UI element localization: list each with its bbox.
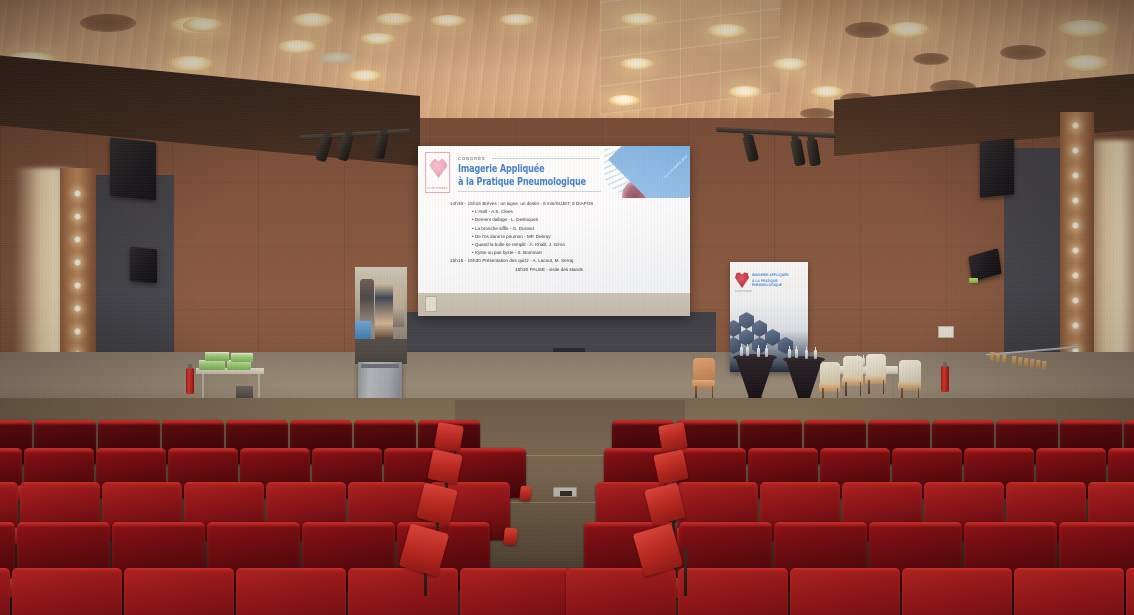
programme-line: • Kyste ou pas kyste - S. Bommart xyxy=(418,249,690,257)
banner-title-line2: À LA PRATIQUE PNEUMOLOGIQUE xyxy=(752,279,808,287)
chair-back xyxy=(843,356,863,379)
seat xyxy=(566,568,676,615)
chair-leg xyxy=(868,380,870,394)
stage-chair xyxy=(899,360,921,402)
side-doorway[interactable] xyxy=(355,267,407,364)
projection-screen: CLUB THORAX CONGRÈS Imagerie Appliquée à… xyxy=(418,146,690,316)
stage-chair xyxy=(820,362,840,402)
floor-socket-box xyxy=(553,487,577,497)
programme-line: • Quand la bulle se remplit - A. Khalil,… xyxy=(418,241,690,249)
seat xyxy=(0,568,10,615)
programme-line: 15h15 - 15h30 Présentation des quizz - A… xyxy=(418,257,690,265)
ceiling-light xyxy=(886,22,930,38)
slide-title-line1: Imagerie Appliquée xyxy=(458,163,596,176)
programme-line: • De l'os dans le poumon - MP. Debray xyxy=(418,233,690,241)
ceiling-light xyxy=(1058,20,1110,38)
programme-text: • Kyste ou pas kyste - S. Bommart xyxy=(472,250,542,255)
chair-back xyxy=(866,354,886,377)
ceiling-light xyxy=(348,70,382,82)
seat xyxy=(124,568,234,615)
banner-subtitle: CLUB THORAX xyxy=(735,290,752,293)
aisle-armrest xyxy=(653,449,689,485)
fire-extinguisher xyxy=(941,366,949,392)
programme-line: 15h30 PAUSE - visite des stands xyxy=(418,266,690,274)
programme-time: 14h30 - 15h15 xyxy=(450,201,482,206)
chair-back xyxy=(820,362,840,385)
programme-text: Brèves : un signe, un destin - 6 min/SUJ… xyxy=(482,201,593,206)
exit-sign-icon xyxy=(969,278,978,283)
programme-time: 15h15 - 15h30 xyxy=(450,258,482,263)
seat xyxy=(1126,568,1134,615)
programme-text: • De l'os dans le poumon - MP. Debray xyxy=(472,234,551,239)
water-bottle-pack xyxy=(199,360,225,370)
ceiling-light xyxy=(360,33,396,45)
wall-notice-sign xyxy=(938,326,954,338)
chair-leg xyxy=(860,382,862,396)
ceiling-light xyxy=(375,13,413,26)
table-leg xyxy=(892,374,894,398)
seat xyxy=(790,568,900,615)
aisle-armrest xyxy=(427,449,463,485)
seat xyxy=(12,568,122,615)
slide-kicker: CONGRÈS xyxy=(458,156,485,161)
seat xyxy=(348,568,458,615)
slide-content: CLUB THORAX CONGRÈS Imagerie Appliquée à… xyxy=(418,146,690,293)
ceiling-light xyxy=(291,13,333,28)
ceiling-light xyxy=(728,86,762,98)
ceiling-vent xyxy=(913,53,949,65)
slide-title: Imagerie Appliquée à la Pratique Pneumol… xyxy=(458,163,596,188)
aisle-armrest xyxy=(658,422,688,452)
ceiling-light xyxy=(608,95,640,106)
ceiling-vent xyxy=(318,52,356,64)
ceiling-light xyxy=(183,18,223,32)
ceiling-light xyxy=(620,13,658,26)
water-bottle xyxy=(740,347,743,356)
slide-artwork: 22 & 23 MARS 2019 xyxy=(598,146,690,198)
club-thorax-logo-icon: CLUB THORAX xyxy=(425,152,450,193)
programme-text: • L'Atoll - A.S. Clees xyxy=(472,209,513,214)
auditorium-photo: CLUB THORAX CONGRÈS Imagerie Appliquée à… xyxy=(0,0,1134,615)
ceiling-vent xyxy=(845,22,889,38)
programme-text: Présentation des quizz - A. Lacout, M. S… xyxy=(482,258,573,263)
seat xyxy=(678,568,788,615)
lung-heart-icon xyxy=(429,158,448,178)
seat-armrest xyxy=(503,527,518,545)
seat xyxy=(902,568,1012,615)
slide-title-line2: à la Pratique Pneumologique xyxy=(458,176,596,189)
water-bottle xyxy=(805,350,808,359)
water-bottle xyxy=(788,349,791,358)
ceiling-light xyxy=(430,15,466,27)
chair-back xyxy=(899,360,921,384)
ceiling-light xyxy=(707,24,747,38)
ceiling-light xyxy=(1062,55,1110,72)
chair-back xyxy=(693,358,715,382)
stage-chair xyxy=(693,358,715,400)
programme-text: PAUSE - visite des stands xyxy=(530,267,583,272)
wall-speaker-left xyxy=(130,247,157,283)
programme-text: • La bronche siffle - G. Durand xyxy=(472,226,534,231)
line-array-speaker-right xyxy=(980,138,1014,198)
fire-extinguisher xyxy=(186,368,194,394)
person-silhouette xyxy=(375,283,393,339)
seat xyxy=(1014,568,1124,615)
ceiling-light xyxy=(810,86,844,98)
ceiling-vent xyxy=(1000,45,1046,60)
programme-line: • La bronche siffle - G. Durand xyxy=(418,225,690,233)
banner-title-line1: IMAGERIE APPLIQUÉE xyxy=(752,273,789,277)
programme-text: • Dement dallage - L. Desloques xyxy=(472,217,538,222)
chair-leg xyxy=(883,380,885,394)
logo-caption: CLUB THORAX xyxy=(426,187,449,190)
water-bottle xyxy=(795,349,798,358)
seat-armrest xyxy=(519,485,532,501)
water-bottle xyxy=(814,350,817,359)
stage-chair xyxy=(866,354,886,394)
title-divider xyxy=(458,191,601,192)
person-silhouette xyxy=(360,279,374,325)
ceiling-light xyxy=(499,14,535,26)
line-array-speaker-left xyxy=(110,138,156,201)
ceiling-light xyxy=(620,58,654,70)
programme-text: • Quand la bulle se remplit - A. Khalil,… xyxy=(472,242,565,247)
ceiling-vent xyxy=(80,14,136,32)
water-bottle-pack xyxy=(231,353,253,362)
programme-time: 15h30 xyxy=(515,267,530,272)
seat-leg xyxy=(684,548,687,596)
kicker-divider xyxy=(492,158,600,159)
person-silhouette xyxy=(393,287,404,327)
water-bottle-pack xyxy=(205,352,229,361)
water-bottle xyxy=(746,347,749,356)
equipment-case xyxy=(355,321,371,339)
slide-programme-list: 14h30 - 15h15 Brèves : un signe, un dest… xyxy=(418,200,690,274)
ceiling-light xyxy=(772,58,808,71)
programme-line: • Dement dallage - L. Desloques xyxy=(418,216,690,224)
water-bottle xyxy=(765,348,768,357)
chair-leg xyxy=(845,382,847,396)
stage-chair xyxy=(843,356,863,396)
screen-lower-blank-area xyxy=(418,293,690,316)
ceiling-light xyxy=(277,40,317,54)
seat xyxy=(460,568,570,615)
programme-line: • L'Atoll - A.S. Clees xyxy=(418,208,690,216)
seat xyxy=(236,568,346,615)
aisle-armrest xyxy=(434,422,464,452)
programme-line: 14h30 - 15h15 Brèves : un signe, un dest… xyxy=(418,200,690,208)
wall-notice-sign xyxy=(425,296,437,312)
ceiling-light xyxy=(168,56,214,72)
banner-logo-icon xyxy=(735,272,749,288)
slide-header: CLUB THORAX CONGRÈS Imagerie Appliquée à… xyxy=(418,146,690,198)
water-bottle xyxy=(757,348,760,357)
